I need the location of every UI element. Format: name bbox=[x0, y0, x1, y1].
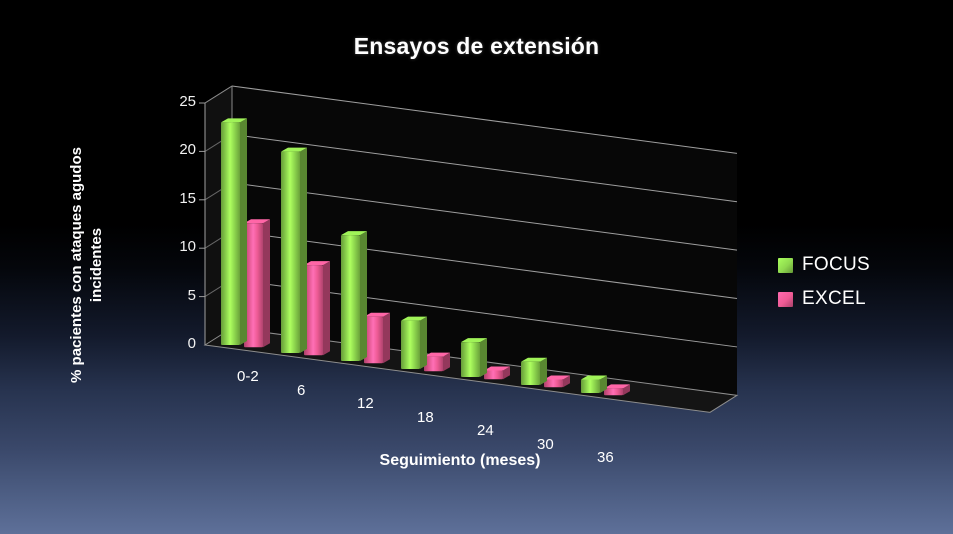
bar-focus-36 bbox=[581, 375, 607, 393]
x-tick-30: 30 bbox=[537, 436, 554, 453]
bar-focus-24 bbox=[461, 338, 487, 377]
legend-swatch-excel-icon bbox=[778, 292, 793, 307]
legend-item-excel[interactable]: EXCEL bbox=[778, 282, 938, 316]
bar-focus-0-2 bbox=[221, 118, 247, 345]
x-tick-12: 12 bbox=[357, 395, 374, 412]
bar-focus-30 bbox=[521, 358, 547, 385]
legend-swatch-focus-icon bbox=[778, 258, 793, 273]
x-tick-18: 18 bbox=[417, 409, 434, 426]
bar-focus-12 bbox=[341, 231, 367, 361]
x-tick-0-2: 0-2 bbox=[237, 368, 259, 385]
bar-focus-6 bbox=[281, 148, 307, 353]
bar-excel-24 bbox=[484, 366, 510, 379]
bar-excel-12 bbox=[364, 313, 390, 363]
x-tick-36: 36 bbox=[597, 449, 614, 466]
bar-excel-6 bbox=[304, 261, 330, 355]
x-tick-6: 6 bbox=[297, 382, 305, 399]
chart-canvas: Ensayos de extensión % pacientes con ata… bbox=[0, 0, 953, 534]
legend-label: FOCUS bbox=[802, 254, 870, 276]
bar-excel-18 bbox=[424, 353, 450, 372]
legend-label: EXCEL bbox=[802, 288, 866, 310]
legend-item-focus[interactable]: FOCUS bbox=[778, 248, 938, 282]
chart-legend: FOCUSEXCEL bbox=[778, 248, 938, 316]
x-tick-24: 24 bbox=[477, 422, 494, 439]
bar-focus-18 bbox=[401, 317, 427, 369]
bar-excel-0-2 bbox=[244, 219, 270, 347]
